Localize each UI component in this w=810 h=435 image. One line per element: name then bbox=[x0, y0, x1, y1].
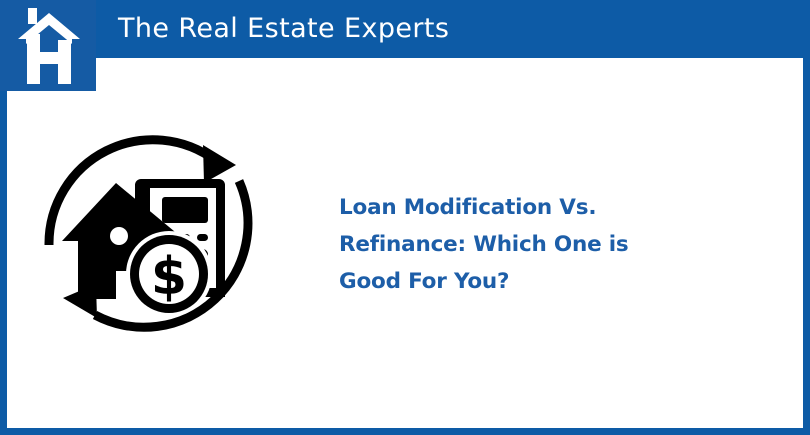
banner-card: The Real Estate Experts bbox=[0, 0, 810, 435]
logo-block bbox=[0, 0, 96, 91]
house-h-logo-icon bbox=[18, 8, 80, 84]
svg-text:$: $ bbox=[151, 247, 187, 307]
refinance-cycle-icon: $ bbox=[40, 119, 266, 345]
body-area: $ Loan Modification Vs. Refinance: Which… bbox=[7, 91, 803, 428]
header-title: The Real Estate Experts bbox=[118, 12, 758, 48]
page-title: Loan Modification Vs. Refinance: Which O… bbox=[339, 189, 689, 300]
